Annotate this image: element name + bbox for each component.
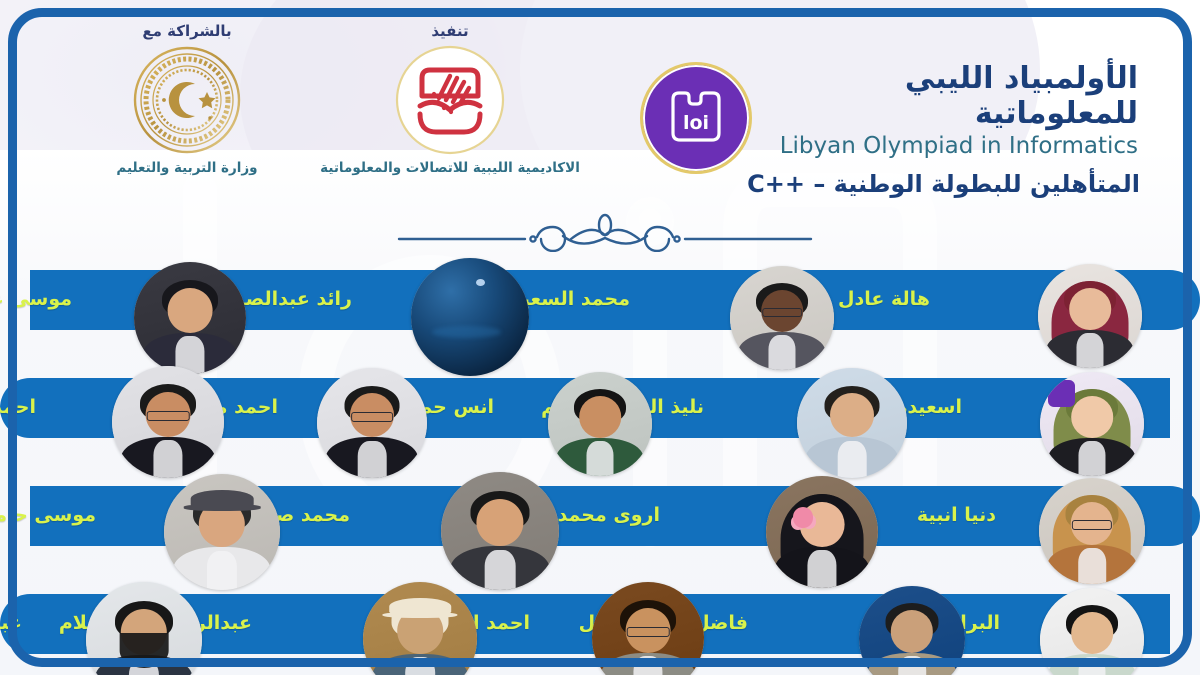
participant-photo — [1040, 372, 1144, 476]
avatar-art — [859, 586, 965, 675]
participant-name: عبدالله الصيد — [0, 612, 22, 634]
avatar-art — [317, 368, 427, 478]
avatar-art — [592, 582, 704, 675]
academy-logo-icon — [394, 44, 506, 156]
avatar-art — [1040, 588, 1144, 675]
participant-photo — [363, 582, 477, 675]
participant-photo — [730, 266, 834, 370]
participant-photo — [112, 366, 224, 478]
loi-badge-text: loi — [683, 112, 709, 134]
participant-photo — [1040, 588, 1144, 675]
subtitle: المتأهلين للبطولة الوطنية – ++C — [700, 170, 1140, 198]
executor-logo-block: تنفيذ — [300, 22, 600, 176]
participant-photo — [441, 472, 559, 590]
avatar-art — [112, 366, 224, 478]
participant-photo — [859, 586, 965, 675]
qualifier-rows: هالة عادل فاضل محمد السعيدي رائد عبدالصم… — [0, 246, 1200, 666]
participant-photo — [548, 372, 652, 476]
executor-footer: الاكاديمية الليبية للاتصالات والمعلوماتي… — [300, 160, 600, 176]
participant-photo — [766, 476, 878, 588]
participant-photo — [592, 582, 704, 675]
partner-logo-block: بالشراكة مع — [72, 22, 302, 176]
avatar-art — [86, 582, 202, 675]
qualifier-row-4: البراء خالد فاضل عادل فاضل احمد البكوش ع… — [0, 570, 1200, 675]
partner-footer: وزارة التربية والتعليم — [72, 160, 302, 176]
avatar-art — [363, 582, 477, 675]
title-group: الأولمبياد الليبي للمعلوماتية Libyan Oly… — [770, 62, 1138, 159]
avatar-art — [1039, 478, 1145, 584]
avatar-art — [1040, 372, 1144, 476]
participant-photo — [797, 368, 907, 478]
participant-photo — [1038, 264, 1142, 368]
qualifier-row-3: دنيا انبية اروى محمد رجب محمد صالح حمد م… — [0, 462, 1200, 570]
title-english: Libyan Olympiad in Informatics — [770, 133, 1138, 159]
executor-caption: تنفيذ — [300, 22, 600, 40]
avatar-art — [411, 258, 529, 376]
participant-photo — [86, 582, 202, 675]
avatar-art — [134, 262, 246, 374]
partner-caption: بالشراكة مع — [72, 22, 302, 40]
avatar-art — [766, 476, 878, 588]
poster-canvas: بالشراكة مع — [0, 0, 1200, 675]
avatar-art — [1038, 264, 1142, 368]
title-arabic: الأولمبياد الليبي للمعلوماتية — [770, 62, 1138, 131]
ministry-seal-icon — [133, 46, 241, 154]
avatar-art — [730, 266, 834, 370]
poster-header: بالشراكة مع — [0, 0, 1200, 215]
participant-name: احمد عبدالباسط — [0, 396, 36, 418]
avatar-art — [548, 372, 652, 476]
qualifier-row-2: اسعيدة ادريس نليذ الحاج ابراهيم انس حمزة… — [0, 354, 1200, 462]
participant-photo — [317, 368, 427, 478]
participant-photo — [411, 258, 529, 376]
participant-name: موسى عون — [0, 288, 72, 310]
participant-photo — [164, 474, 280, 590]
avatar-art — [797, 368, 907, 478]
participant-name: موسى حامد — [0, 504, 96, 526]
avatar-art — [441, 472, 559, 590]
avatar-art — [164, 474, 280, 590]
participant-name: دنيا انبية — [917, 504, 996, 526]
participant-photo — [134, 262, 246, 374]
loi-badge-icon: loi — [640, 62, 752, 174]
qualifier-row-1: هالة عادل فاضل محمد السعيدي رائد عبدالصم… — [0, 246, 1200, 354]
participant-photo — [1039, 478, 1145, 584]
